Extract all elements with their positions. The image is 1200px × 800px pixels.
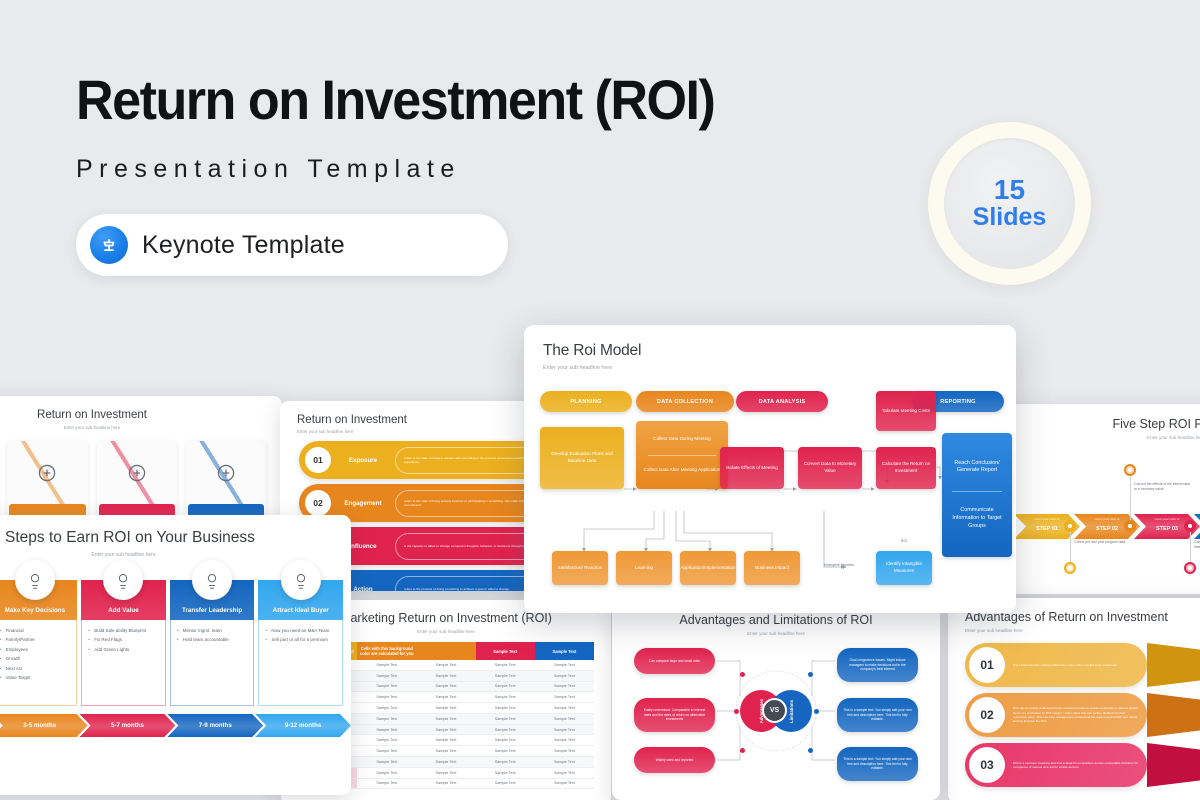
step-column[interactable]: Add ValueBuild Sale ability BlueprintFix… xyxy=(81,580,166,706)
box-collect-data[interactable]: Collect Data During MeetingCollect Data … xyxy=(636,421,728,489)
table-cell: Sample Text xyxy=(357,692,416,703)
steps-timeline-arrows: 1-3 months3-5 months5-7 months7-9 months… xyxy=(0,706,351,737)
connector-dot xyxy=(734,709,739,714)
table-cell: Sample Text xyxy=(535,767,594,778)
table-cell: Sample Text xyxy=(416,767,475,778)
slide-subtitle: Enter your sub headline here xyxy=(965,628,1200,633)
advantage-row[interactable]: 02ROI can be further analyzed into its c… xyxy=(965,693,1147,737)
step-bullet: Fix Red Flags xyxy=(88,636,159,643)
box-collect-during-label: Collect Data During Meeting xyxy=(653,436,710,443)
step-bullet: Sell part or all for a premium xyxy=(265,636,336,643)
slide-title: Advantages and Limitations of ROI xyxy=(612,613,940,627)
advantage-description: It is a financial ratio making relationa… xyxy=(1005,663,1147,667)
slide-5-steps-to-earn-roi[interactable]: 5 Steps to Earn ROI on Your Business Ent… xyxy=(0,515,351,795)
table-cell: Sample Text xyxy=(476,703,535,714)
roi-list-number: 01 xyxy=(305,447,331,473)
slide-title: The Roi Model xyxy=(543,342,1016,360)
slides-count-badge: 15 Slides xyxy=(928,122,1091,285)
roi-list-number: 02 xyxy=(305,490,331,516)
step-duration-arrow[interactable]: 5-7 months xyxy=(80,714,176,737)
step-node[interactable] xyxy=(1064,520,1076,532)
limitation-pod[interactable]: Goal congruence issues. Might induce man… xyxy=(837,648,918,682)
advantage-pod[interactable]: Easily understood. Comparable to interes… xyxy=(634,698,715,732)
step-body: Now you need an M&A TeamSell part or all… xyxy=(258,620,343,706)
box-outcome[interactable]: Satisfaction/ Reaction xyxy=(552,551,608,585)
table-cell: Sample Text xyxy=(416,746,475,757)
table-cell: Sample Text xyxy=(535,713,594,724)
table-cell: Sample Text xyxy=(416,757,475,768)
table-cell: Sample Text xyxy=(357,757,416,768)
step-bullet: Value Target xyxy=(0,674,70,681)
advantage-description: ROI is a common measure and that is idea… xyxy=(1005,761,1147,770)
table-cell: Sample Text xyxy=(476,757,535,768)
table-cell: Sample Text xyxy=(416,735,475,746)
box-collect-after-label: Collect Data After Meeting Application xyxy=(644,467,721,474)
box-outcome[interactable]: Application/Implementation xyxy=(680,551,736,585)
advantage-pod[interactable]: Widely used and reported xyxy=(634,747,715,773)
refresh-dollar-icon xyxy=(186,441,266,504)
table-cell: Sample Text xyxy=(416,713,475,724)
table-header-cell: Cells with this background color are cal… xyxy=(357,642,416,660)
divider xyxy=(648,455,715,456)
step-duration-arrow[interactable]: 7-9 months xyxy=(167,714,263,737)
five-step-timeline: Lorem ipsum dolor sitSTEP 01Collect pre … xyxy=(1006,440,1200,580)
table-cell: Sample Text xyxy=(357,778,416,789)
step-duration-arrow[interactable]: 3-5 months xyxy=(0,714,88,737)
table-cell: Sample Text xyxy=(535,735,594,746)
money-growth-icon xyxy=(103,560,143,600)
connector-dot xyxy=(814,709,819,714)
table-cell: Sample Text xyxy=(476,778,535,789)
step-note: Collect pre and post program data xyxy=(1074,540,1134,545)
step-bullet: Financial xyxy=(0,627,70,634)
box-calculate-roi[interactable]: Calculate the Return on Investment xyxy=(876,447,936,489)
limitation-pod[interactable]: This is a sample text. You simply add yo… xyxy=(837,747,918,781)
box-outcome[interactable]: Learning xyxy=(616,551,672,585)
people-transfer-icon xyxy=(192,560,232,600)
table-cell: Sample Text xyxy=(357,670,416,681)
table-cell: Sample Text xyxy=(535,757,594,768)
box-outcome[interactable]: Business Impact xyxy=(744,551,800,585)
slide-the-roi-model[interactable]: The Roi Model Enter your sub headline he… xyxy=(524,325,1016,613)
table-cell: Sample Text xyxy=(535,670,594,681)
step-endpoint-dot xyxy=(1184,562,1196,574)
vs-badge: VS xyxy=(762,698,787,723)
table-cell: Sample Text xyxy=(535,778,594,789)
slides-count-label: Slides xyxy=(973,204,1047,232)
table-header-cell xyxy=(416,642,475,660)
step-bullet: Build Sale ability Blueprint xyxy=(88,627,159,634)
table-cell: Sample Text xyxy=(416,703,475,714)
table-cell: Sample Text xyxy=(535,703,594,714)
step-node[interactable] xyxy=(1124,520,1136,532)
table-cell: Sample Text xyxy=(476,746,535,757)
phase-pill[interactable]: DATA ANALYSIS xyxy=(736,391,828,412)
divider xyxy=(952,491,1002,492)
table-cell: Sample Text xyxy=(416,778,475,789)
step-duration-arrow[interactable]: 9-12 months xyxy=(255,714,351,737)
step-arrow-label: STEP 01 xyxy=(1036,526,1058,532)
table-header-cell: Sample Text xyxy=(476,642,535,660)
step-bullet: Hold team accountable xyxy=(177,636,248,643)
roi-list-name: Exposure xyxy=(331,457,395,464)
step-arrow-label: STEP 03 xyxy=(1156,526,1178,532)
table-cell: Sample Text xyxy=(476,724,535,735)
advantage-row[interactable]: 03ROI is a common measure and that is id… xyxy=(965,743,1147,787)
table-cell: Sample Text xyxy=(476,767,535,778)
step-arrow-subtext: Lorem ipsum dolor sit xyxy=(1035,518,1060,521)
table-cell: Sample Text xyxy=(357,767,416,778)
step-bullet: Now you need an M&A Team xyxy=(265,627,336,634)
step-stem xyxy=(1070,532,1071,562)
box-develop-evaluation-plans[interactable]: Develop Evaluation Plans and Baseline Da… xyxy=(540,427,624,489)
slide-title: Return on Investment xyxy=(0,409,282,421)
step-bullet: Add Green Lights xyxy=(88,646,159,653)
table-cell: Sample Text xyxy=(476,692,535,703)
slides-count-number: 15 xyxy=(994,175,1025,204)
steps-row: Consider OptionsBuild Road MapBring in i… xyxy=(0,558,351,706)
table-cell: Sample Text xyxy=(357,681,416,692)
phase-pill[interactable]: DATA COLLECTION xyxy=(636,391,734,412)
step-stem xyxy=(1130,476,1131,520)
buyer-magnet-icon xyxy=(281,560,321,600)
connector-dot xyxy=(740,748,745,753)
table-cell: Sample Text xyxy=(416,670,475,681)
step-endpoint-dot xyxy=(1124,464,1136,476)
table-cell: Sample Text xyxy=(476,660,535,670)
table-cell: Sample Text xyxy=(416,692,475,703)
slide-title: Five Step ROI Process xyxy=(1006,417,1200,431)
step-body: Mentor mgmt. teamHold team accountable xyxy=(170,620,255,706)
step-bullet: Mentor mgmt. team xyxy=(177,627,248,634)
advantages-limitations-diagram: Advantages Limitations VS Can compare la… xyxy=(612,636,940,786)
advantage-pod[interactable]: Can compare large and small units xyxy=(634,648,715,674)
table-cell: Sample Text xyxy=(416,660,475,670)
keynote-podium-icon xyxy=(90,226,128,264)
decision-hand-icon xyxy=(15,560,55,600)
label-roi: ROI xyxy=(878,539,930,544)
table-header-cell: Sample Text xyxy=(535,642,594,660)
roi-model-flowchart: PLANNINGDATA COLLECTIONDATA ANALYSISREPO… xyxy=(524,371,1016,589)
slides-count-inner: 15 Slides xyxy=(944,138,1075,269)
box-reach-conclusion-label: Reach Conclusion/ Generate Report xyxy=(945,452,1009,476)
table-cell: Sample Text xyxy=(476,670,535,681)
advantage-description: ROI can be further analyzed into its com… xyxy=(1005,706,1147,724)
label-intangible-benefits: Intangible Benefits xyxy=(816,563,862,568)
advantage-row[interactable]: 01It is a financial ratio making relatio… xyxy=(965,643,1147,687)
table-cell: Sample Text xyxy=(535,681,594,692)
slide-five-step-roi-process[interactable]: Five Step ROI Process Enter your sub hea… xyxy=(1006,404,1200,594)
page-subtitle: Presentation Template xyxy=(76,155,762,184)
hand-coin-icon xyxy=(7,441,87,504)
step-column[interactable]: Make Key DecisionsFinancialFamily/Partne… xyxy=(0,580,77,706)
advantages-rows: 01It is a financial ratio making relatio… xyxy=(948,643,1200,787)
box-isolate-effects[interactable]: Isolate Effects of Meeting xyxy=(720,447,784,489)
slide-advantages-of-roi[interactable]: Advantages of Return on Investment Enter… xyxy=(948,598,1200,800)
advantage-number: 03 xyxy=(969,747,1005,783)
box-identify-intangible[interactable]: Identify Intangible Measures xyxy=(876,551,932,585)
advantage-funnel xyxy=(1147,643,1200,687)
table-cell: Sample Text xyxy=(357,724,416,735)
step-body: FinancialFamily/PartnerEmployeesGrowthNe… xyxy=(0,620,77,706)
connector-dot xyxy=(808,748,813,753)
box-reach-conclusion[interactable]: Reach Conclusion/ Generate ReportCommuni… xyxy=(942,433,1012,557)
step-endpoint-dot xyxy=(1064,562,1076,574)
connector-dot xyxy=(808,672,813,677)
table-cell: Sample Text xyxy=(357,746,416,757)
step-bullet: Employees xyxy=(0,646,70,653)
table-cell: Sample Text xyxy=(357,703,416,714)
advantage-funnel xyxy=(1147,743,1200,787)
roi-list-name: Engagement xyxy=(331,500,395,507)
limitations-label: Limitations xyxy=(789,700,794,723)
connector-dot xyxy=(740,672,745,677)
keynote-template-badge[interactable]: Keynote Template xyxy=(76,214,508,276)
table-cell: Sample Text xyxy=(357,713,416,724)
table-cell: Sample Text xyxy=(535,746,594,757)
box-tabulate-costs[interactable]: Tabulate Meeting Costs xyxy=(876,391,936,431)
table-cell: Sample Text xyxy=(535,692,594,703)
limitation-pod[interactable]: This is a sample text. You simply add yo… xyxy=(837,698,918,732)
step-body: Build Sale ability BlueprintFix Red Flag… xyxy=(81,620,166,706)
step-column[interactable]: Attract Ideal BuyerNow you need an M&A T… xyxy=(258,580,343,706)
table-cell: Sample Text xyxy=(357,660,416,670)
table-cell: Sample Text xyxy=(476,735,535,746)
target-arrow-icon xyxy=(97,441,177,504)
step-bullet: Growth xyxy=(0,655,70,662)
advantage-number: 02 xyxy=(969,697,1005,733)
step-bullet: Family/Partner xyxy=(0,636,70,643)
step-bullet: Next Act xyxy=(0,665,70,672)
table-cell: Sample Text xyxy=(476,713,535,724)
step-arrow-subtext: Lorem ipsum dolor sit xyxy=(1155,518,1180,521)
step-note: Calculate the total cost of the interven… xyxy=(1194,540,1200,550)
slide-advantages-and-limitations[interactable]: Advantages and Limitations of ROI Enter … xyxy=(612,602,940,800)
step-arrow-subtext: Lorem ipsum dolor sit xyxy=(1095,518,1120,521)
step-arrow-label: STEP 02 xyxy=(1096,526,1118,532)
step-stem xyxy=(1190,532,1191,562)
step-note: Convert the effects of the intervention … xyxy=(1134,482,1194,492)
step-column[interactable]: Transfer LeadershipMentor mgmt. teamHold… xyxy=(170,580,255,706)
table-cell: Sample Text xyxy=(535,660,594,670)
table-cell: Sample Text xyxy=(416,724,475,735)
step-node[interactable] xyxy=(1184,520,1196,532)
slide-title: 5 Steps to Earn ROI on Your Business xyxy=(0,529,351,547)
table-cell: Sample Text xyxy=(357,735,416,746)
box-convert-monetary[interactable]: Convert Data to Monetary Value xyxy=(798,447,862,489)
box-communicate-label: Communicate Information to Target Groups xyxy=(945,507,1009,538)
hero-section: Return on Investment (ROI) Presentation … xyxy=(76,70,762,276)
table-cell: Sample Text xyxy=(476,681,535,692)
table-cell: Sample Text xyxy=(535,724,594,735)
table-cell: Sample Text xyxy=(416,681,475,692)
page-title: Return on Investment (ROI) xyxy=(76,70,714,129)
phase-pill[interactable]: PLANNING xyxy=(540,391,632,412)
advantage-funnel xyxy=(1147,693,1200,737)
advantage-number: 01 xyxy=(969,647,1005,683)
keynote-template-label: Keynote Template xyxy=(142,231,345,260)
